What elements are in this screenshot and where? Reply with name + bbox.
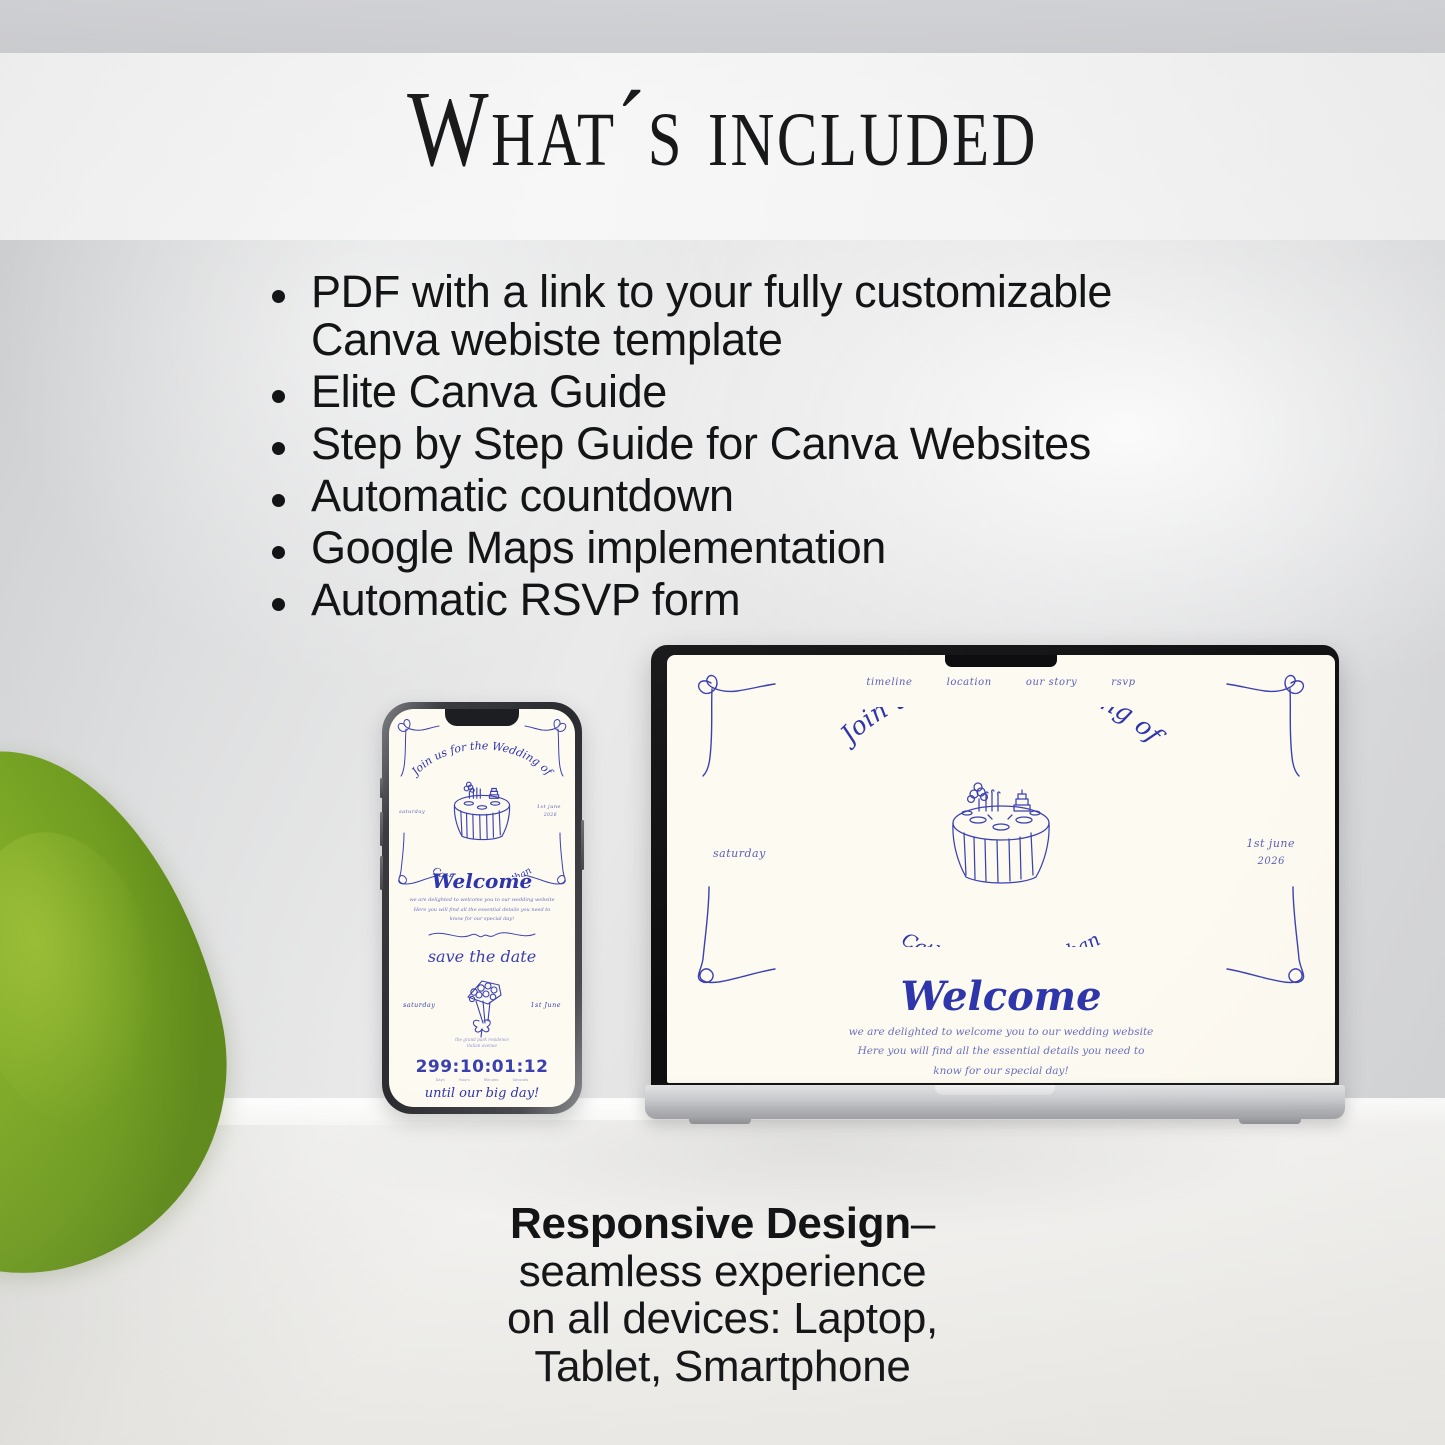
caption-line-4: Tablet, Smartphone (0, 1343, 1445, 1391)
wedding-website-desktop: timeline location our story rsvp (667, 655, 1335, 1083)
poster-canvas: What´s included PDF with a link to your … (0, 0, 1445, 1445)
phone-wedding-table-illustration (439, 771, 525, 845)
list-item: Google Maps implementation (268, 524, 1228, 572)
countdown-timer: 299:10:01:12 (389, 1057, 575, 1077)
countdown-label-days: Days (436, 1078, 445, 1082)
phone-volume-down-button[interactable] (380, 856, 383, 890)
laptop-screen: timeline location our story rsvp (667, 655, 1335, 1083)
welcome-heading: Welcome (667, 973, 1335, 1020)
bouquet-illustration (455, 971, 509, 1039)
save-the-date-heading: save the date (389, 947, 575, 966)
label-date-right-line1: 1st june (1246, 837, 1295, 850)
arc-heading-text: Join us for the Wedding of (831, 707, 1170, 752)
smartphone-mockup: Join us for the Wedding of (382, 702, 582, 1114)
laptop-foot-left (689, 1115, 751, 1124)
couple-names-wrap: Catherine & Jonathan (791, 877, 1211, 947)
phone-screen: Join us for the Wedding of (389, 709, 575, 1107)
phone-volume-up-button[interactable] (380, 812, 383, 846)
nav-item-location[interactable]: location (947, 677, 992, 688)
welcome-body-line-3: know for our special day! (667, 1062, 1335, 1081)
background-top-strip (0, 0, 1445, 53)
welcome-body-line-2: Here you will find all the essential det… (667, 1042, 1335, 1061)
countdown-label-minutes: Minutes (484, 1078, 499, 1082)
list-item: Elite Canva Guide (268, 368, 1228, 416)
venue-line-2: italian avenue (389, 1043, 575, 1049)
list-item: PDF with a link to your fully customizab… (268, 268, 1228, 364)
phone-power-button[interactable] (581, 820, 584, 870)
countdown-labels: Days Hours Minutes Seconds (389, 1078, 575, 1082)
phone-label-date-line2: 2026 (544, 813, 557, 818)
caption-dash: – (911, 1199, 935, 1248)
phone-label-day-left: saturday (399, 809, 425, 815)
welcome-body-line-1: we are delighted to welcome you to our w… (667, 1023, 1335, 1042)
wedding-website-mobile: Join us for the Wedding of (389, 709, 575, 1107)
caption-line-3: on all devices: Laptop, (0, 1295, 1445, 1343)
phone-welcome-heading: Welcome (389, 869, 575, 893)
save-the-date-date: 1st June (530, 1001, 561, 1009)
features-list: PDF with a link to your fully customizab… (268, 268, 1228, 627)
countdown-caption: until our big day! (389, 1086, 575, 1101)
nav-item-rsvp[interactable]: rsvp (1111, 677, 1135, 688)
laptop-mockup: timeline location our story rsvp (645, 645, 1345, 1115)
laptop-base (645, 1085, 1345, 1119)
laptop-foot-right (1239, 1115, 1301, 1124)
list-item: Automatic RSVP form (268, 576, 1228, 624)
countdown-label-seconds: Seconds (513, 1078, 529, 1082)
label-day-left: saturday (713, 847, 766, 860)
laptop-camera-notch (945, 655, 1057, 667)
page-title: What´s included (145, 76, 1301, 184)
list-item: Automatic countdown (268, 472, 1228, 520)
phone-welcome-body-line-3: know for our special day! (389, 915, 575, 925)
svg-text:Catherine & Jonathan: Catherine & Jonathan (898, 928, 1104, 947)
phone-welcome-body-line-1: we are delighted to welcome you to our w… (389, 896, 575, 906)
laptop-lid: timeline location our story rsvp (651, 645, 1339, 1091)
phone-camera-notch (445, 709, 519, 726)
caption-strong-text: Responsive Design (510, 1199, 911, 1248)
corner-flourish-top-left (691, 669, 781, 779)
label-date-right-line2: 2026 (1258, 856, 1285, 867)
save-the-date-day: saturday (403, 1001, 435, 1009)
divider-flourish (427, 927, 537, 943)
corner-flourish-top-right (1221, 669, 1311, 779)
caption-line-2: seamless experience (0, 1248, 1445, 1296)
wedding-table-illustration (926, 767, 1076, 889)
nav-item-our-story[interactable]: our story (1026, 677, 1077, 688)
caption-line-1: Responsive Design– (0, 1200, 1445, 1248)
svg-text:Join us for the Wedding of: Join us for the Wedding of (831, 707, 1170, 752)
phone-silent-switch[interactable] (380, 778, 383, 798)
bottom-caption: Responsive Design– seamless experience o… (0, 1200, 1445, 1390)
phone-label-date-line1: 1st june (537, 804, 561, 810)
list-item: Step by Step Guide for Canva Websites (268, 420, 1228, 468)
phone-welcome-body-line-2: Here you will find all the essential det… (389, 906, 575, 916)
countdown-label-hours: Hours (459, 1078, 470, 1082)
nav-item-timeline[interactable]: timeline (866, 677, 912, 688)
couple-names-text: Catherine & Jonathan (898, 928, 1104, 947)
